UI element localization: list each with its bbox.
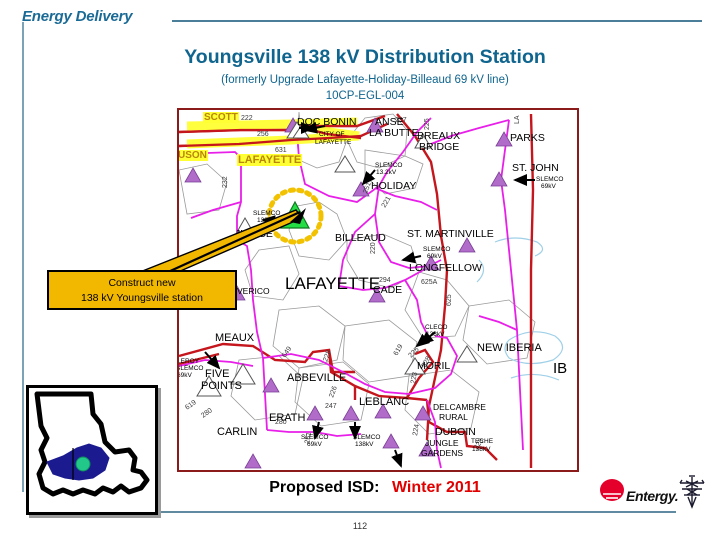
transmission-tower-icon bbox=[680, 476, 704, 507]
svg-text:251: 251 bbox=[304, 432, 313, 445]
svg-text:631: 631 bbox=[275, 147, 287, 154]
svg-text:280: 280 bbox=[275, 419, 287, 426]
transmission-map: 222 256 631 232 237 225 221 220 294 625A… bbox=[177, 108, 579, 472]
left-vertical-rule bbox=[22, 22, 24, 492]
svg-text:649: 649 bbox=[281, 345, 293, 359]
callout-line-2: 138 kV Youngsville station bbox=[49, 292, 235, 304]
svg-text:222: 222 bbox=[241, 115, 253, 122]
new-station-marker bbox=[281, 202, 309, 228]
svg-text:280: 280 bbox=[200, 407, 214, 419]
callout-construct-new-station: Construct new 138 kV Youngsville station bbox=[47, 270, 237, 310]
louisiana-outline bbox=[37, 394, 147, 494]
svg-text:237: 237 bbox=[395, 117, 407, 124]
page-subtitle: (formerly Upgrade Lafayette-Holiday-Bill… bbox=[110, 74, 620, 86]
svg-text:256: 256 bbox=[257, 131, 269, 138]
isd-value: Winter 2011 bbox=[392, 479, 481, 496]
svg-text:247: 247 bbox=[325, 403, 337, 410]
svg-text:LA: LA bbox=[514, 115, 521, 124]
svg-text:220: 220 bbox=[370, 242, 377, 254]
louisiana-locator-inset bbox=[26, 385, 158, 515]
svg-text:232: 232 bbox=[222, 176, 229, 188]
entergy-logo: Entergy. bbox=[596, 473, 708, 513]
svg-text:223: 223 bbox=[473, 437, 485, 451]
project-code: 10CP-EGL-004 bbox=[110, 90, 620, 102]
svg-text:225: 225 bbox=[424, 118, 431, 130]
svg-text:221: 221 bbox=[381, 195, 393, 209]
page-number: 112 bbox=[330, 521, 390, 531]
open-stations bbox=[197, 122, 477, 396]
svg-text:619: 619 bbox=[184, 399, 198, 411]
svg-text:619: 619 bbox=[393, 343, 405, 357]
svg-text:625A: 625A bbox=[421, 279, 438, 286]
isd-label: Proposed ISD: bbox=[269, 479, 379, 496]
footer-rule bbox=[113, 511, 676, 513]
project-location-marker bbox=[76, 457, 90, 471]
svg-text:226: 226 bbox=[328, 385, 339, 398]
svg-text:224: 224 bbox=[412, 424, 421, 437]
entergy-wordmark: Entergy. bbox=[626, 488, 678, 504]
svg-text:625: 625 bbox=[446, 294, 453, 306]
callout-line-1: Construct new bbox=[49, 277, 235, 289]
proposed-isd: Proposed ISD: Winter 2011 bbox=[160, 479, 590, 497]
header-brand: Energy Delivery bbox=[22, 8, 132, 25]
page-title: Youngsville 138 kV Distribution Station bbox=[110, 46, 620, 69]
header-rule bbox=[172, 20, 702, 22]
svg-text:294: 294 bbox=[379, 277, 391, 284]
svg-text:225: 225 bbox=[407, 346, 420, 359]
